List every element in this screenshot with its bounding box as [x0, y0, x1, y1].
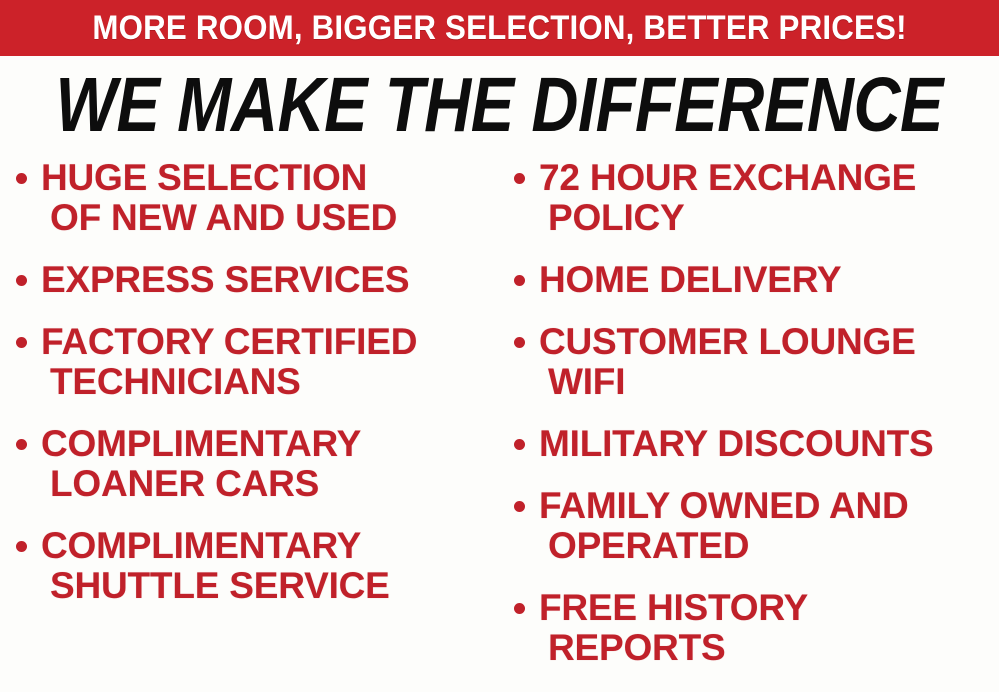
benefit-item-line1: CUSTOMER LOUNGE — [539, 321, 916, 362]
benefits-column-right: 72 HOUR EXCHANGEPOLICYHOME DELIVERYCUSTO… — [500, 158, 999, 690]
bullet-dot-icon — [16, 541, 27, 552]
top-promo-banner-text: MORE ROOM, BIGGER SELECTION, BETTER PRIC… — [92, 11, 906, 45]
benefit-item-line1: COMPLIMENTARY — [41, 525, 361, 566]
benefit-item-label: COMPLIMENTARYLOANER CARS — [41, 424, 361, 504]
benefit-item-line1: HOME DELIVERY — [539, 259, 841, 300]
benefit-item-label: CUSTOMER LOUNGEWIFI — [539, 322, 916, 402]
benefit-item-line2: OF NEW AND USED — [41, 198, 397, 238]
benefit-item-label: MILITARY DISCOUNTS — [539, 424, 934, 464]
benefit-item: FREE HISTORYREPORTS — [514, 588, 999, 668]
benefit-item-line2: REPORTS — [539, 628, 808, 668]
bullet-dot-icon — [16, 173, 27, 184]
benefit-item-label: FACTORY CERTIFIEDTECHNICIANS — [41, 322, 417, 402]
benefit-item-label: COMPLIMENTARYSHUTTLE SERVICE — [41, 526, 390, 606]
benefit-item-label: HUGE SELECTIONOF NEW AND USED — [41, 158, 397, 238]
benefits-columns: HUGE SELECTIONOF NEW AND USEDEXPRESS SER… — [0, 158, 999, 692]
bullet-dot-icon — [514, 603, 525, 614]
benefit-item-line2: SHUTTLE SERVICE — [41, 566, 390, 606]
bullet-dot-icon — [514, 439, 525, 450]
benefit-item-line1: FAMILY OWNED AND — [539, 485, 909, 526]
benefit-item: CUSTOMER LOUNGEWIFI — [514, 322, 999, 402]
benefit-item-line1: 72 HOUR EXCHANGE — [539, 157, 916, 198]
benefit-list-left: HUGE SELECTIONOF NEW AND USEDEXPRESS SER… — [16, 158, 500, 606]
benefit-item: HOME DELIVERY — [514, 260, 999, 300]
benefit-item-line2: TECHNICIANS — [41, 362, 417, 402]
benefit-item: HUGE SELECTIONOF NEW AND USED — [16, 158, 500, 238]
benefit-item: COMPLIMENTARYLOANER CARS — [16, 424, 500, 504]
advertisement-root: MORE ROOM, BIGGER SELECTION, BETTER PRIC… — [0, 0, 999, 692]
benefit-item-line2: WIFI — [539, 362, 916, 402]
headline-container: WE MAKE THE DIFFERENCE — [0, 60, 999, 150]
benefit-item: FAMILY OWNED ANDOPERATED — [514, 486, 999, 566]
top-promo-banner: MORE ROOM, BIGGER SELECTION, BETTER PRIC… — [0, 0, 999, 56]
benefit-item-line1: MILITARY DISCOUNTS — [539, 423, 934, 464]
benefit-item-line2: OPERATED — [539, 526, 909, 566]
bullet-dot-icon — [16, 275, 27, 286]
benefit-item-line1: FREE HISTORY — [539, 587, 808, 628]
bullet-dot-icon — [514, 275, 525, 286]
headline-text: WE MAKE THE DIFFERENCE — [56, 67, 944, 144]
benefit-item-label: HOME DELIVERY — [539, 260, 841, 300]
benefit-item-label: EXPRESS SERVICES — [41, 260, 409, 300]
benefit-item-line1: COMPLIMENTARY — [41, 423, 361, 464]
benefit-item: COMPLIMENTARYSHUTTLE SERVICE — [16, 526, 500, 606]
benefit-item-line2: POLICY — [539, 198, 916, 238]
benefit-item-label: FREE HISTORYREPORTS — [539, 588, 808, 668]
benefit-item-line1: FACTORY CERTIFIED — [41, 321, 417, 362]
benefits-column-left: HUGE SELECTIONOF NEW AND USEDEXPRESS SER… — [0, 158, 500, 628]
benefit-item-line1: EXPRESS SERVICES — [41, 259, 409, 300]
benefit-item-line1: HUGE SELECTION — [41, 157, 367, 198]
bullet-dot-icon — [16, 439, 27, 450]
benefit-item-label: 72 HOUR EXCHANGEPOLICY — [539, 158, 916, 238]
benefit-item: MILITARY DISCOUNTS — [514, 424, 999, 464]
benefit-item: 72 HOUR EXCHANGEPOLICY — [514, 158, 999, 238]
benefit-item: FACTORY CERTIFIEDTECHNICIANS — [16, 322, 500, 402]
bullet-dot-icon — [16, 337, 27, 348]
bullet-dot-icon — [514, 501, 525, 512]
benefit-item: EXPRESS SERVICES — [16, 260, 500, 300]
benefit-list-right: 72 HOUR EXCHANGEPOLICYHOME DELIVERYCUSTO… — [514, 158, 999, 668]
bullet-dot-icon — [514, 173, 525, 184]
benefit-item-line2: LOANER CARS — [41, 464, 361, 504]
benefit-item-label: FAMILY OWNED ANDOPERATED — [539, 486, 909, 566]
bullet-dot-icon — [514, 337, 525, 348]
